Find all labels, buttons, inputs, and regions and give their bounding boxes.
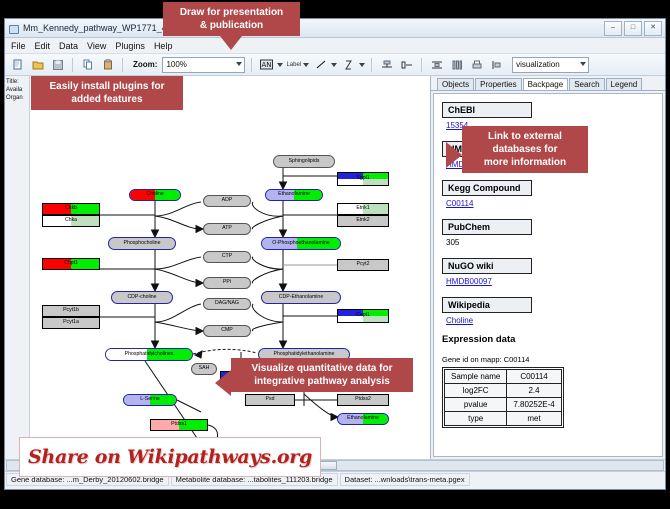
pathway-node-label: CDP-choline bbox=[127, 295, 156, 300]
menu-item-data[interactable]: Data bbox=[59, 41, 78, 51]
table-row: typemet bbox=[445, 412, 562, 426]
database-header: NuGO wiki bbox=[442, 258, 532, 274]
callout-links-line1: Link to external bbox=[470, 130, 580, 143]
database-value: 305 bbox=[446, 238, 654, 247]
pathway-node-label: Sphingolipids bbox=[289, 159, 320, 164]
pathway-node-label: PPi bbox=[223, 280, 231, 285]
main-content: Title: Availa Organ bbox=[5, 76, 665, 459]
pathway-node-label: CDP-Ethanolamine bbox=[279, 295, 323, 300]
align-icon[interactable] bbox=[378, 56, 395, 73]
callout-plugins: Easily install plugins for added feature… bbox=[31, 76, 183, 110]
chevron-down-icon bbox=[580, 62, 586, 66]
database-header: ChEBI bbox=[442, 102, 532, 118]
minimize-button[interactable]: – bbox=[604, 21, 622, 36]
toolbar-separator bbox=[72, 58, 73, 72]
pathway-node-phosphatidylcholines[interactable]: Phosphatidylcholines bbox=[105, 348, 193, 361]
side-panel: Objects Properties Backpage Search Legen… bbox=[431, 76, 665, 459]
pathway-node-label: Sgpl1 bbox=[356, 176, 369, 181]
toolbar: Zoom: 100% AN Label bbox=[5, 54, 665, 76]
pathway-node-choline_top[interactable]: Choline bbox=[129, 189, 181, 201]
pathway-node-ctp[interactable]: CTP bbox=[203, 251, 251, 263]
tab-backpage[interactable]: Backpage bbox=[523, 78, 569, 90]
callout-visualize-line2: integrative pathway analysis bbox=[239, 375, 405, 388]
info-title-label: Title: bbox=[6, 78, 28, 86]
callout-visualize-line1: Visualize quantitative data for bbox=[239, 362, 405, 375]
paste-icon[interactable] bbox=[99, 56, 116, 73]
pathway-node-ethanolamine_r[interactable]: Ethanolamine bbox=[337, 413, 389, 425]
chevron-down-icon[interactable] bbox=[277, 63, 283, 67]
menu-item-edit[interactable]: Edit bbox=[35, 41, 51, 51]
pathway-node-pcyt2[interactable]: Pcyt2 bbox=[337, 259, 389, 271]
database-header: PubChem bbox=[442, 219, 532, 235]
pathway-node-ptdss2[interactable]: Ptdss2 bbox=[337, 394, 389, 406]
side-tabs: Objects Properties Backpage Search Legen… bbox=[431, 76, 665, 91]
table-cell: type bbox=[445, 412, 507, 426]
zoom-combo[interactable]: 100% bbox=[162, 57, 245, 73]
pathway-node-psd[interactable]: Psd bbox=[245, 394, 295, 406]
datanode-icon[interactable]: AN bbox=[258, 56, 275, 73]
line-icon[interactable] bbox=[312, 56, 329, 73]
callout-links-arrow-icon bbox=[446, 142, 462, 168]
pathvisio-window: Mm_Kennedy_pathway_WP1771_45176.gpml – □… bbox=[4, 18, 666, 490]
pathway-node-label: DAG/NAG bbox=[215, 301, 239, 306]
toolbar-separator bbox=[421, 58, 422, 72]
database-link[interactable]: HMDB00097 bbox=[446, 277, 654, 286]
share-banner-text: Share on Wikipathways.org bbox=[28, 446, 312, 468]
info-organism-label: Organ bbox=[6, 94, 28, 102]
pathway-node-ptdss1[interactable]: Ptdss1 bbox=[150, 419, 208, 431]
group-icon[interactable] bbox=[398, 56, 415, 73]
chevron-down-icon bbox=[236, 62, 242, 66]
database-header: Wikipedia bbox=[442, 297, 532, 313]
table-cell: 2.4 bbox=[507, 384, 561, 398]
table-row: Sample nameC00114 bbox=[445, 370, 562, 384]
pathway-node-sphingolipids[interactable]: Sphingolipids bbox=[273, 155, 335, 168]
pathway-node-chkb[interactable]: Chkb bbox=[42, 203, 100, 215]
pathway-node-label: Ptdss2 bbox=[355, 397, 371, 402]
callout-plugins-line1: Easily install plugins for bbox=[39, 80, 175, 93]
pathway-node-sah[interactable]: SAH bbox=[191, 363, 217, 375]
callout-draw-line1: Draw for presentation bbox=[171, 6, 292, 19]
pathway-node-label: Phosphatidylethanolamine bbox=[274, 352, 335, 357]
pathway-info-strip: Title: Availa Organ bbox=[5, 76, 30, 459]
pathway-canvas[interactable]: Title: Availa Organ bbox=[5, 76, 431, 459]
status-dataset: Dataset: ...wnloads\trans-meta.pgex bbox=[340, 473, 470, 486]
table-cell: 7.80252E-4 bbox=[507, 398, 561, 412]
pathway-node-label: Ptdss1 bbox=[171, 422, 187, 427]
pathway-node-label: Pcyt2 bbox=[357, 262, 370, 267]
pathway-node-ophosphoethanolamine[interactable]: O-Phosphoethanolamine bbox=[261, 237, 341, 250]
callout-links-line3: more information bbox=[470, 156, 580, 169]
pathway-node-label: Chkb bbox=[65, 206, 77, 211]
table-cell: met bbox=[507, 412, 561, 426]
pathway-node-adp[interactable]: ADP bbox=[203, 195, 251, 207]
pathway-node-label: CMP bbox=[221, 328, 233, 333]
svg-text:AN: AN bbox=[262, 61, 272, 69]
pathway-node-label: O-Phosphoethanolamine bbox=[272, 241, 329, 246]
callout-links-line2: databases for bbox=[470, 143, 580, 156]
backpage-content: ChEBI15354HMDBHMDB00097Kegg CompoundC001… bbox=[433, 93, 663, 457]
pathway-node-chpt1[interactable]: Chpt1 bbox=[42, 258, 100, 270]
callout-plugins-line2: added features bbox=[39, 93, 175, 106]
app-icon bbox=[8, 23, 19, 34]
pathway-node-etnk1[interactable]: Etnk1 bbox=[337, 203, 389, 215]
label-tool-text: Label bbox=[286, 62, 301, 68]
menu-item-view[interactable]: View bbox=[87, 41, 106, 51]
pathway-node-label: ADP bbox=[222, 198, 233, 203]
database-link[interactable]: C00114 bbox=[446, 199, 654, 208]
table-row: pvalue7.80252E-4 bbox=[445, 398, 562, 412]
pathway-node-cdpethanolamine[interactable]: CDP-Ethanolamine bbox=[261, 291, 341, 304]
line-tool[interactable] bbox=[312, 56, 337, 73]
callout-draw-line2: & publication bbox=[171, 19, 292, 32]
pathway-node-cept1[interactable]: Cept1 bbox=[337, 309, 389, 323]
callout-draw: Draw for presentation & publication bbox=[163, 2, 300, 36]
maximize-button[interactable]: □ bbox=[624, 21, 642, 36]
pathway-node-phosphocholine[interactable]: Phosphocholine bbox=[108, 237, 176, 250]
pathway-node-label: Etnk2 bbox=[356, 218, 369, 223]
pathway-node-label: Chka bbox=[65, 218, 77, 223]
pathway-node-label: SAH bbox=[199, 366, 210, 371]
table-row: log2FC2.4 bbox=[445, 384, 562, 398]
copy-icon[interactable] bbox=[79, 56, 96, 73]
pathway-node-pcyt1b[interactable]: Pcyt1b bbox=[42, 305, 100, 317]
callout-visualize-arrow-icon bbox=[215, 370, 231, 396]
anchor-tool[interactable] bbox=[340, 56, 365, 73]
open-folder-icon[interactable] bbox=[29, 56, 46, 73]
save-icon[interactable] bbox=[49, 56, 66, 73]
close-button[interactable]: ✕ bbox=[644, 21, 662, 36]
pathway-node-atp1[interactable]: ATP bbox=[203, 223, 251, 235]
pathway-node-label: Pcyt1a bbox=[63, 320, 79, 325]
chevron-down-icon[interactable] bbox=[303, 63, 309, 67]
pathway-node-cdpcholine[interactable]: CDP-choline bbox=[111, 291, 173, 304]
callout-links: Link to external databases for more info… bbox=[462, 126, 588, 173]
pathway-node-sgpl1[interactable]: Sgpl1 bbox=[337, 172, 389, 186]
pathway-node-pcyt1a[interactable]: Pcyt1a bbox=[42, 317, 100, 329]
share-banner: Share on Wikipathways.org bbox=[19, 437, 321, 477]
table-cell: log2FC bbox=[445, 384, 507, 398]
pathway-node-label: Choline bbox=[146, 192, 164, 197]
menu-item-file[interactable]: File bbox=[11, 41, 26, 51]
pathway-node-etnk2[interactable]: Etnk2 bbox=[337, 215, 389, 227]
window-controls: – □ ✕ bbox=[604, 21, 662, 36]
datanode-tool[interactable]: AN bbox=[258, 56, 283, 73]
expression-data-header: Expression data bbox=[442, 334, 654, 345]
expression-table-frame: Sample nameC00114log2FC2.4pvalue7.80252E… bbox=[442, 367, 564, 428]
pathway-node-label: Etnk1 bbox=[356, 206, 369, 211]
pathway-node-label: ATP bbox=[222, 226, 232, 231]
stack-icon[interactable] bbox=[448, 56, 465, 73]
print-icon[interactable] bbox=[468, 56, 485, 73]
zoom-label: Zoom: bbox=[133, 60, 157, 69]
label-tool[interactable]: Label bbox=[286, 62, 309, 68]
pathway-node-dagnag[interactable]: DAG/NAG bbox=[203, 298, 251, 310]
callout-visualize: Visualize quantitative data for integrat… bbox=[231, 358, 413, 392]
table-cell: C00114 bbox=[507, 370, 561, 384]
menu-item-help[interactable]: Help bbox=[154, 41, 173, 51]
chevron-down-icon[interactable] bbox=[331, 63, 337, 67]
tab-objects[interactable]: Objects bbox=[437, 78, 474, 90]
expression-table: Sample nameC00114log2FC2.4pvalue7.80252E… bbox=[444, 369, 562, 426]
visualization-combo[interactable]: visualization bbox=[512, 57, 589, 73]
table-cell: pvalue bbox=[445, 398, 507, 412]
menu-item-plugins[interactable]: Plugins bbox=[115, 41, 145, 51]
pathway-node-lserine_l[interactable]: L-Serine bbox=[123, 394, 177, 406]
database-link[interactable]: Choline bbox=[446, 316, 654, 325]
distribute-icon[interactable] bbox=[428, 56, 445, 73]
tab-search[interactable]: Search bbox=[569, 78, 604, 90]
pathway-node-label: Phosphatidylcholines bbox=[125, 352, 174, 357]
pathway-node-label: Ethanolamine bbox=[347, 416, 379, 421]
table-cell: Sample name bbox=[445, 370, 507, 384]
gene-id-line: Gene id on mapp: C00114 bbox=[442, 355, 654, 364]
pathway-node-label: Pcyt1b bbox=[63, 308, 79, 313]
chevron-down-icon[interactable] bbox=[359, 63, 365, 67]
visualization-value: visualization bbox=[516, 60, 560, 69]
title-bar: Mm_Kennedy_pathway_WP1771_45176.gpml – □… bbox=[5, 19, 665, 38]
zoom-value: 100% bbox=[166, 60, 186, 69]
new-file-icon[interactable] bbox=[9, 56, 26, 73]
toolbar-separator bbox=[122, 58, 123, 72]
pathway-node-label: Ethanolamine bbox=[278, 192, 310, 197]
tab-legend[interactable]: Legend bbox=[606, 78, 643, 90]
toolbar-separator bbox=[251, 58, 252, 72]
info-availability-label: Availa bbox=[6, 86, 28, 94]
pathway-node-cmp[interactable]: CMP bbox=[203, 325, 251, 337]
pathway-node-chka[interactable]: Chka bbox=[42, 215, 100, 227]
pathway-node-label: Chpt1 bbox=[64, 261, 78, 266]
pathway-node-label: Cept1 bbox=[356, 313, 370, 318]
order-icon[interactable] bbox=[488, 56, 505, 73]
pathway-node-ethanolamine_top[interactable]: Ethanolamine bbox=[265, 189, 323, 201]
pathway-node-label: L-Serine bbox=[140, 397, 160, 402]
pathway-node-label: Phosphocholine bbox=[124, 241, 161, 246]
pathway-node-label: CTP bbox=[222, 254, 232, 259]
toolbar-separator bbox=[371, 58, 372, 72]
pathway-node-ppi[interactable]: PPi bbox=[203, 277, 251, 289]
anchor-icon[interactable] bbox=[340, 56, 357, 73]
callout-draw-arrow-icon bbox=[220, 36, 242, 50]
database-header: Kegg Compound bbox=[442, 180, 532, 196]
pathway-node-label: Psd bbox=[266, 397, 275, 402]
menu-bar: File Edit Data View Plugins Help bbox=[5, 38, 665, 54]
tab-properties[interactable]: Properties bbox=[475, 78, 521, 90]
